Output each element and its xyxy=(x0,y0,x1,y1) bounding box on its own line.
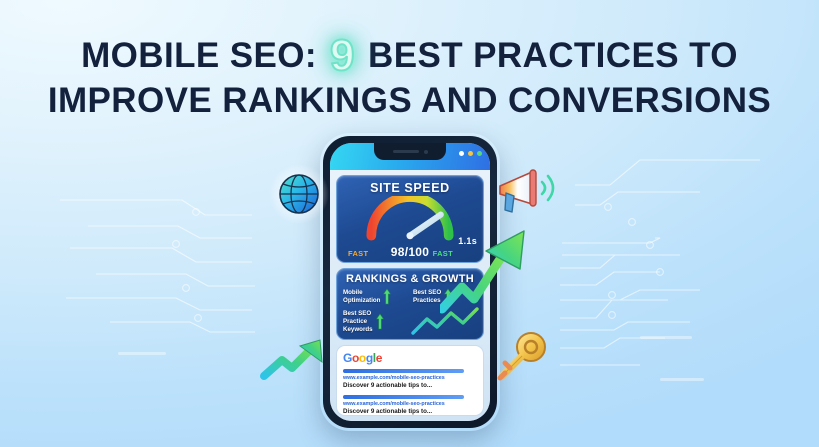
ranking-item-label: Mobile Optimization xyxy=(343,289,380,305)
phone-notch xyxy=(374,143,446,160)
speed-score: 98/100 xyxy=(391,245,430,259)
phone-statusbar xyxy=(330,143,490,170)
title-neon-number: 9 xyxy=(330,33,355,80)
large-growth-arrow-icon xyxy=(440,225,532,315)
result-url[interactable]: www.example.com/mobile-seo-practices xyxy=(343,375,477,382)
statusbar-dots xyxy=(459,151,482,156)
up-arrow-icon xyxy=(376,313,384,330)
google-logo-letter: G xyxy=(343,351,352,365)
result-description: Discover 9 actionable tips to... xyxy=(343,382,477,390)
title-part-before: MOBILE SEO: xyxy=(81,36,317,75)
result-description: Discover 9 actionable tips to... xyxy=(343,408,477,416)
globe-icon xyxy=(268,163,330,225)
growth-arrow-icon xyxy=(258,332,332,388)
ranking-item-label: Best SEO Practices xyxy=(413,289,441,305)
megaphone-icon xyxy=(492,160,560,222)
key-icon xyxy=(486,325,554,393)
google-logo-letter: o xyxy=(352,351,359,365)
site-speed-title: SITE SPEED xyxy=(337,181,483,195)
up-arrow-icon xyxy=(383,288,391,305)
result-title-bar xyxy=(343,395,464,399)
green-dot-icon xyxy=(477,151,482,156)
google-results-card[interactable]: Google www.example.com/mobile-seo-practi… xyxy=(336,345,484,416)
ranking-item-label: Best SEO Practice Keywords xyxy=(343,310,373,333)
earpiece-speaker xyxy=(393,150,419,153)
yellow-dot-icon xyxy=(468,151,473,156)
poster-title: MOBILE SEO: 9 BEST PRACTICES TO IMPROVE … xyxy=(0,30,819,119)
front-camera xyxy=(424,150,428,154)
poster-canvas: MOBILE SEO: 9 BEST PRACTICES TO IMPROVE … xyxy=(0,0,819,447)
search-result-item[interactable]: www.example.com/mobile-seo-practices Dis… xyxy=(343,369,477,390)
google-logo: Google xyxy=(343,351,477,365)
title-line-1: MOBILE SEO: 9 BEST PRACTICES TO xyxy=(0,30,819,77)
search-result-item[interactable]: www.example.com/mobile-seo-practices Dis… xyxy=(343,395,477,416)
google-logo-letter: e xyxy=(376,351,382,365)
ranking-item-best-seo-practice-keywords: Best SEO Practice Keywords xyxy=(343,310,403,333)
google-logo-letter: o xyxy=(359,351,366,365)
title-part-after: BEST PRACTICES TO xyxy=(368,36,738,75)
ranking-item-mobile-optimization: Mobile Optimization xyxy=(343,288,403,305)
result-title-bar xyxy=(343,369,464,373)
google-logo-letter: g xyxy=(366,351,373,365)
gauge-label-left: FAST xyxy=(348,249,368,258)
white-dot-icon xyxy=(459,151,464,156)
title-line-2: IMPROVE RANKINGS AND CONVERSIONS xyxy=(0,82,819,119)
result-url[interactable]: www.example.com/mobile-seo-practices xyxy=(343,401,477,408)
